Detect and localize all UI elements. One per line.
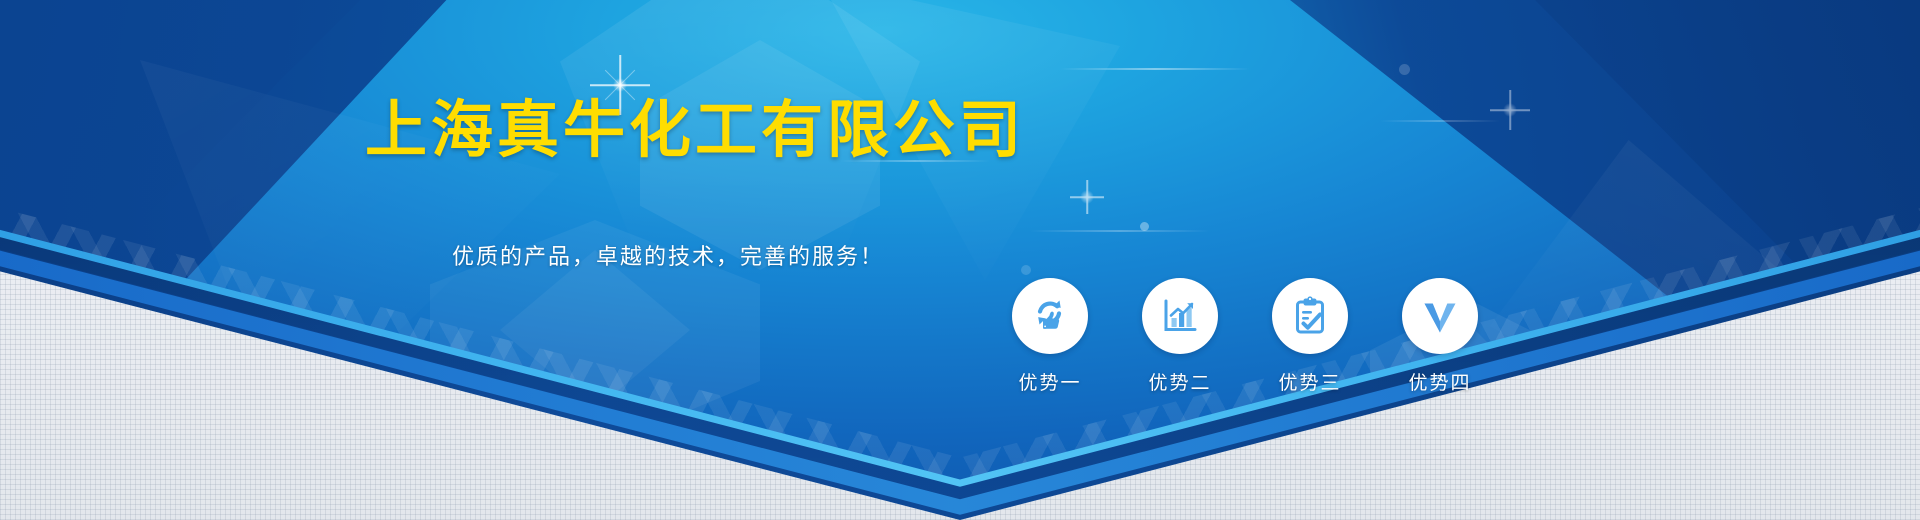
company-hero-banner: 上海真牛化工有限公司 优质的产品，卓越的技术，完善的服务！ 优势一 bbox=[0, 0, 1920, 520]
advantage-icon-circle-4 bbox=[1402, 278, 1478, 354]
light-streak-1 bbox=[1060, 68, 1250, 70]
sparkle-glint-small-icon bbox=[1070, 180, 1104, 214]
advantage-item-2[interactable]: 优势二 bbox=[1130, 278, 1230, 395]
advantage-label-2: 优势二 bbox=[1148, 368, 1211, 395]
advantage-label-1: 优势一 bbox=[1018, 368, 1081, 395]
advantage-icon-circle-2 bbox=[1142, 278, 1218, 354]
v-check-icon bbox=[1418, 294, 1462, 338]
advantage-icon-circle-3 bbox=[1272, 278, 1348, 354]
light-streak-3 bbox=[1030, 230, 1210, 232]
company-title: 上海真牛化工有限公司 bbox=[365, 92, 1025, 170]
light-dot-1 bbox=[1140, 222, 1149, 231]
advantage-item-1[interactable]: 优势一 bbox=[1000, 278, 1100, 395]
refresh-thumbsup-icon bbox=[1028, 294, 1072, 338]
advantage-item-3[interactable]: 优势三 bbox=[1260, 278, 1360, 395]
light-dot-3 bbox=[1021, 265, 1031, 275]
advantage-label-4: 优势四 bbox=[1408, 368, 1471, 395]
advantage-label-3: 优势三 bbox=[1278, 368, 1341, 395]
company-slogan: 优质的产品，卓越的技术，完善的服务！ bbox=[452, 240, 884, 274]
bar-chart-growth-icon bbox=[1158, 294, 1202, 338]
advantage-item-4[interactable]: 优势四 bbox=[1390, 278, 1490, 395]
clipboard-check-icon bbox=[1288, 294, 1332, 338]
advantages-list: 优势一 优势二 bbox=[1000, 278, 1490, 395]
advantage-icon-circle-1 bbox=[1012, 278, 1088, 354]
